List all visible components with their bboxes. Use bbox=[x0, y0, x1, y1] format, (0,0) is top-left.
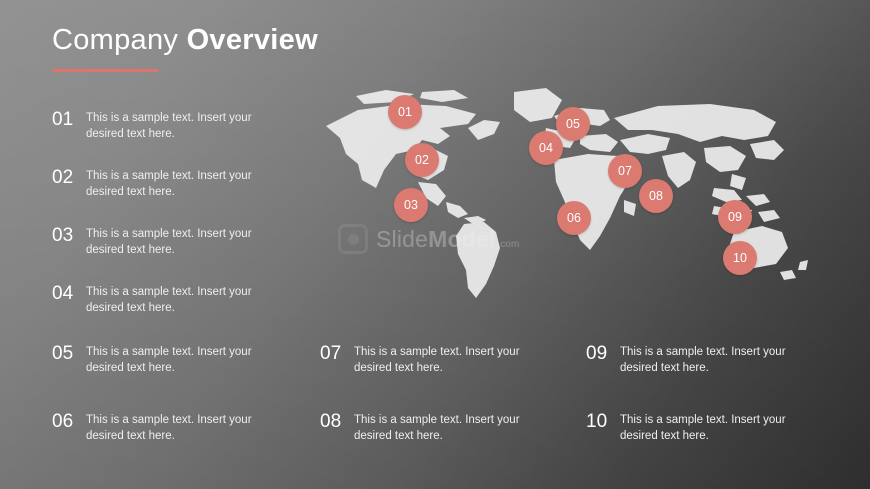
list-item-03[interactable]: 03 This is a sample text. Insert your de… bbox=[52, 226, 256, 258]
list-item-08-text: This is a sample text. Insert your desir… bbox=[354, 412, 524, 444]
map-pin-03[interactable]: 03 bbox=[394, 188, 428, 222]
list-item-05-number: 05 bbox=[52, 344, 86, 364]
list-item-05-text: This is a sample text. Insert your desir… bbox=[86, 344, 256, 376]
map-pin-10-label: 10 bbox=[733, 251, 747, 265]
map-pin-10[interactable]: 10 bbox=[723, 241, 757, 275]
map-pin-07-label: 07 bbox=[618, 164, 632, 178]
map-pin-03-label: 03 bbox=[404, 198, 418, 212]
map-pin-04-label: 04 bbox=[539, 141, 553, 155]
map-pin-09[interactable]: 09 bbox=[718, 200, 752, 234]
list-item-04-number: 04 bbox=[52, 284, 86, 304]
map-pin-08-label: 08 bbox=[649, 189, 663, 203]
list-item-06[interactable]: 06 This is a sample text. Insert your de… bbox=[52, 412, 256, 444]
list-item-02-number: 02 bbox=[52, 168, 86, 188]
list-item-10-number: 10 bbox=[586, 412, 620, 432]
list-item-09-text: This is a sample text. Insert your desir… bbox=[620, 344, 790, 376]
list-item-04[interactable]: 04 This is a sample text. Insert your de… bbox=[52, 284, 256, 316]
list-item-06-number: 06 bbox=[52, 412, 86, 432]
list-item-06-text: This is a sample text. Insert your desir… bbox=[86, 412, 256, 444]
title-underline-rule bbox=[52, 69, 158, 72]
slide-canvas: Company Overview bbox=[0, 0, 870, 489]
list-item-02[interactable]: 02 This is a sample text. Insert your de… bbox=[52, 168, 256, 200]
list-item-07-text: This is a sample text. Insert your desir… bbox=[354, 344, 524, 376]
list-item-07-number: 07 bbox=[320, 344, 354, 364]
list-item-09[interactable]: 09 This is a sample text. Insert your de… bbox=[586, 344, 790, 376]
map-pin-06-label: 06 bbox=[567, 211, 581, 225]
map-pin-01-label: 01 bbox=[398, 105, 412, 119]
list-item-08[interactable]: 08 This is a sample text. Insert your de… bbox=[320, 412, 524, 444]
list-item-01[interactable]: 01 This is a sample text. Insert your de… bbox=[52, 110, 256, 142]
list-item-01-text: This is a sample text. Insert your desir… bbox=[86, 110, 256, 142]
list-item-03-text: This is a sample text. Insert your desir… bbox=[86, 226, 256, 258]
list-item-09-number: 09 bbox=[586, 344, 620, 364]
list-item-02-text: This is a sample text. Insert your desir… bbox=[86, 168, 256, 200]
map-pin-04[interactable]: 04 bbox=[529, 131, 563, 165]
map-pin-06[interactable]: 06 bbox=[557, 201, 591, 235]
list-item-10[interactable]: 10 This is a sample text. Insert your de… bbox=[586, 412, 790, 444]
map-pin-02-label: 02 bbox=[415, 153, 429, 167]
list-item-04-text: This is a sample text. Insert your desir… bbox=[86, 284, 256, 316]
map-pin-07[interactable]: 07 bbox=[608, 154, 642, 188]
map-pin-05-label: 05 bbox=[566, 117, 580, 131]
list-item-03-number: 03 bbox=[52, 226, 86, 246]
list-item-10-text: This is a sample text. Insert your desir… bbox=[620, 412, 790, 444]
map-pin-01[interactable]: 01 bbox=[388, 95, 422, 129]
page-title-bold: Overview bbox=[187, 24, 318, 56]
page-title-light: Company bbox=[52, 24, 187, 56]
list-item-05[interactable]: 05 This is a sample text. Insert your de… bbox=[52, 344, 256, 376]
list-item-08-number: 08 bbox=[320, 412, 354, 432]
map-pin-05[interactable]: 05 bbox=[556, 107, 590, 141]
map-pin-02[interactable]: 02 bbox=[405, 143, 439, 177]
list-item-07[interactable]: 07 This is a sample text. Insert your de… bbox=[320, 344, 524, 376]
list-item-01-number: 01 bbox=[52, 110, 86, 130]
page-title: Company Overview bbox=[52, 24, 318, 57]
map-pin-08[interactable]: 08 bbox=[639, 179, 673, 213]
map-pin-09-label: 09 bbox=[728, 210, 742, 224]
